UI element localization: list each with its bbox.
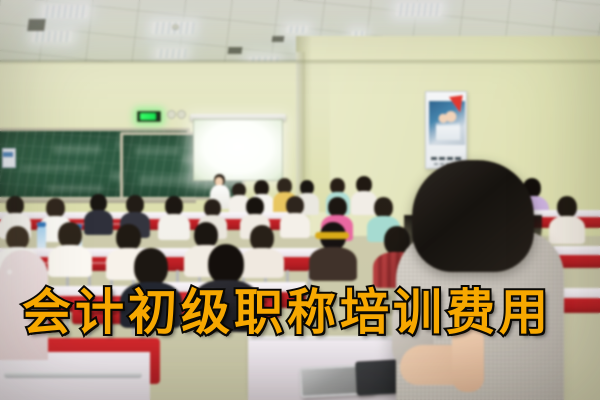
cap-brim-icon bbox=[315, 232, 349, 239]
chalk-smear bbox=[135, 147, 179, 155]
overlay-caption: 会计初级职称培训费用 bbox=[22, 282, 582, 342]
head bbox=[46, 198, 65, 218]
head bbox=[134, 248, 168, 286]
torso bbox=[309, 247, 357, 281]
foreground-subject-head bbox=[412, 160, 534, 272]
poster-headline-text bbox=[431, 157, 463, 160]
torso bbox=[351, 191, 377, 215]
head bbox=[116, 224, 141, 251]
head bbox=[557, 196, 577, 218]
wall-speaker-icon bbox=[177, 110, 186, 119]
torso bbox=[158, 214, 190, 240]
wall-speaker-icon bbox=[167, 110, 176, 119]
board-posted-note-detail bbox=[3, 152, 13, 157]
wall-ceiling-junction bbox=[0, 60, 600, 65]
torso bbox=[84, 210, 113, 235]
chalk-smear bbox=[47, 185, 103, 192]
torso bbox=[48, 245, 92, 277]
chalk-smear bbox=[21, 165, 91, 171]
poster-people-illustration bbox=[436, 110, 460, 140]
chalk-smear bbox=[53, 145, 101, 154]
head bbox=[374, 197, 393, 218]
head bbox=[165, 196, 183, 216]
classroom-photo: 会计初级职称培训费用 bbox=[0, 0, 600, 400]
torso bbox=[549, 216, 585, 244]
wall-poster bbox=[425, 91, 467, 169]
exit-arrow-icon bbox=[140, 113, 156, 120]
chair-metal-rail bbox=[4, 372, 142, 378]
poster-red-arrow-icon bbox=[449, 95, 465, 114]
board-posted-note bbox=[2, 148, 16, 168]
head bbox=[328, 197, 347, 217]
projection-screen bbox=[193, 119, 283, 181]
torso bbox=[280, 213, 310, 238]
torso bbox=[240, 248, 284, 278]
water-bottle-cap bbox=[37, 222, 46, 227]
head bbox=[208, 244, 244, 284]
